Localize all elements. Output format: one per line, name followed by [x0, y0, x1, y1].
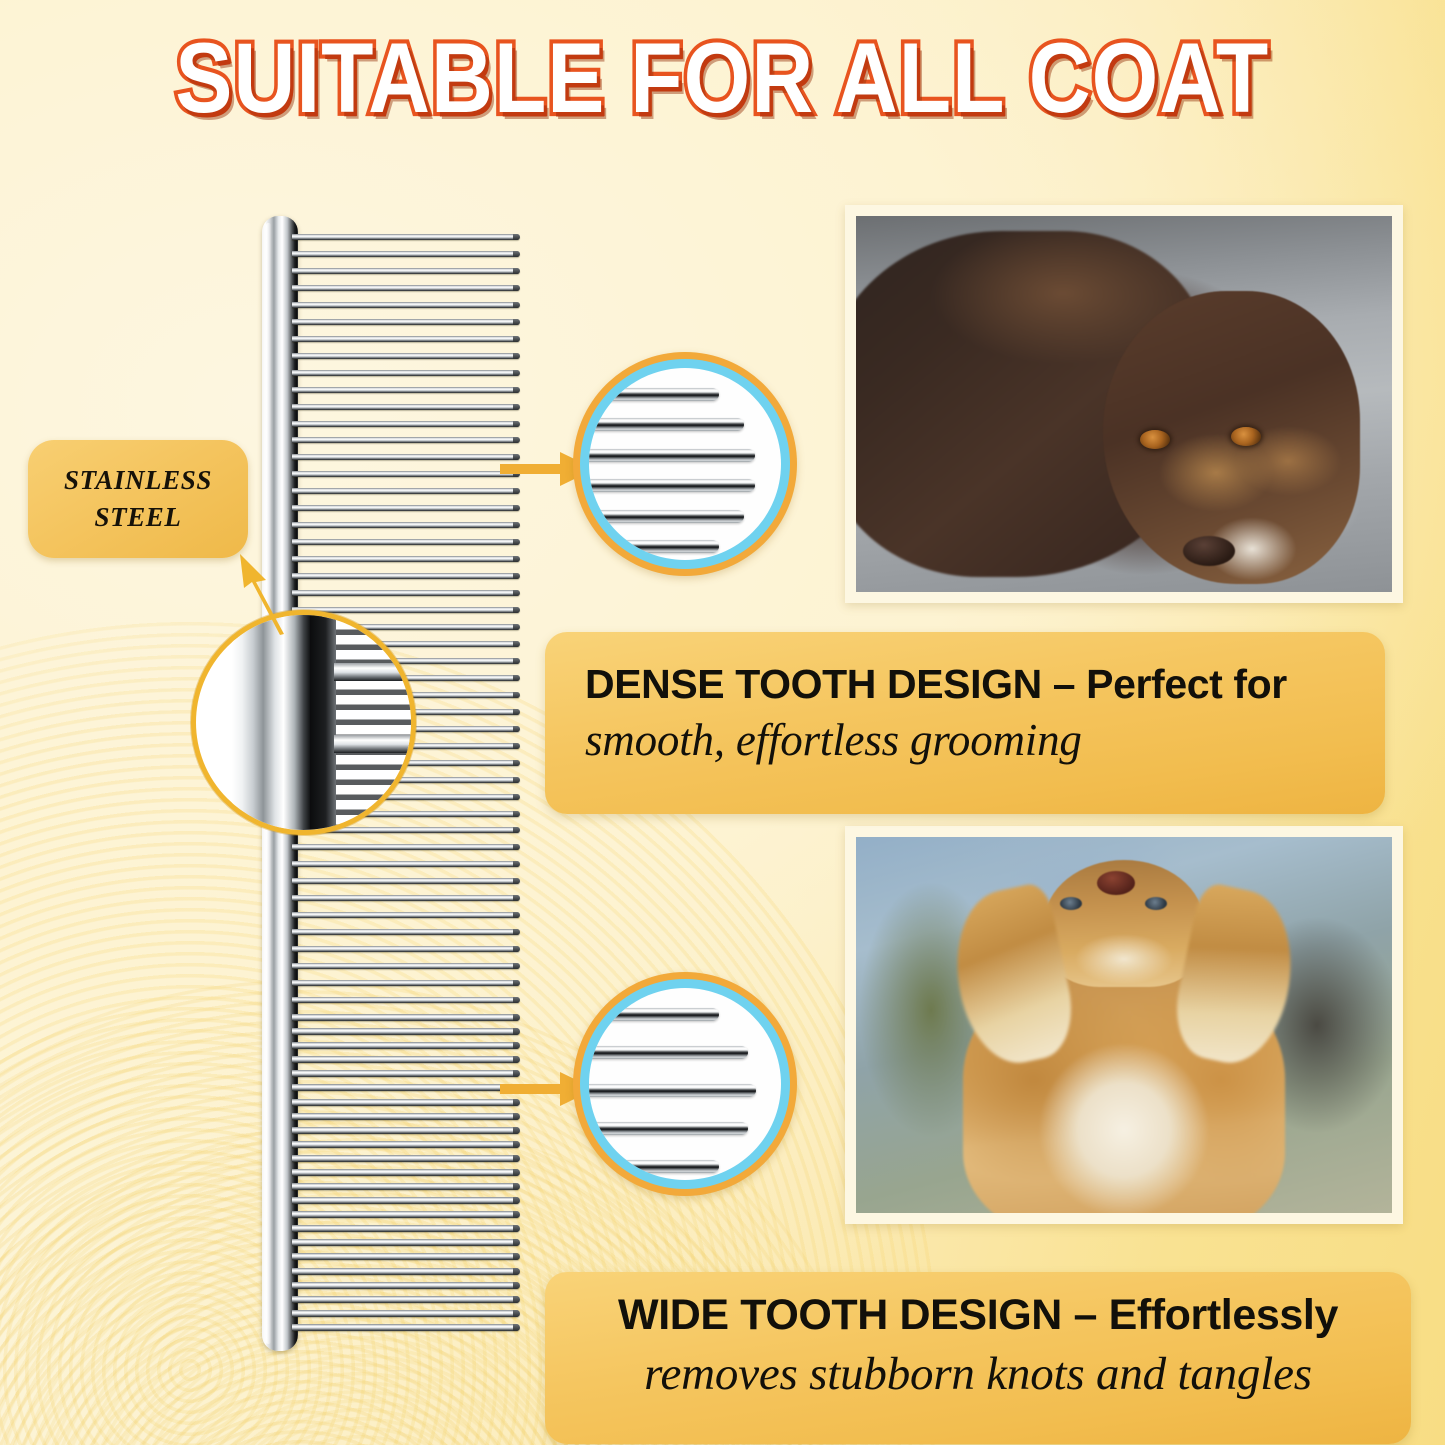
comb-tooth-dense	[292, 437, 520, 443]
comb-tooth-dense	[292, 912, 520, 918]
comb-tooth-dense	[292, 404, 520, 410]
comb-tooth-dense	[292, 997, 520, 1003]
lens-tooth-wide	[589, 1122, 748, 1135]
comb-tooth-wide	[292, 1169, 520, 1176]
stainless-steel-badge-label: STAINLESSSTEEL	[64, 462, 212, 537]
dog2-ear-right	[1166, 880, 1307, 1071]
comb-tooth-dense	[292, 285, 520, 291]
spine-closeup-magnifier	[191, 610, 416, 835]
lens-tooth-wide	[589, 1008, 719, 1021]
comb-tooth-wide	[292, 1183, 520, 1190]
dog-looking-up-image	[856, 837, 1392, 1213]
dense-tooth-zoom-lens	[589, 368, 781, 560]
comb-tooth-dense	[292, 895, 520, 901]
comb-tooth-dense	[292, 319, 520, 325]
spine-closeup-rod	[232, 610, 310, 835]
wide-tooth-zoom-circle	[573, 972, 797, 1196]
comb-tooth-wide	[292, 1197, 520, 1204]
comb-tooth-dense	[292, 505, 520, 511]
dense-tooth-zoom-inner-ring	[580, 359, 790, 569]
spine-closeup-tooth	[334, 735, 416, 753]
comb-tooth-dense	[292, 573, 520, 579]
comb-tooth-dense	[292, 454, 520, 460]
comb-tooth-wide	[292, 1113, 520, 1120]
stainless-steel-badge: STAINLESSSTEEL	[28, 440, 248, 558]
comb-tooth-dense	[292, 370, 520, 376]
comb-tooth-dense	[292, 387, 520, 393]
comb-tooth-dense	[292, 302, 520, 308]
comb-tooth-wide	[292, 1239, 520, 1246]
dog1-eye-right	[1231, 427, 1261, 446]
comb-tooth-wide	[292, 1155, 520, 1162]
lens-tooth-dense	[589, 510, 744, 523]
dog1-nose	[1183, 536, 1235, 566]
comb-tooth-dense	[292, 963, 520, 969]
header: SUITABLE FOR ALL COAT	[0, 28, 1445, 112]
comb-tooth-wide	[292, 1099, 520, 1106]
wide-tooth-callout-lead: WIDE TOOTH DESIGN – Effortlessly	[569, 1288, 1387, 1344]
comb-tooth-dense	[292, 980, 520, 986]
comb-tooth-wide	[292, 1127, 520, 1134]
comb-tooth-wide	[292, 1296, 520, 1303]
spine-closeup-tooth	[334, 663, 416, 681]
lens-tooth-wide	[589, 1046, 748, 1059]
lens-tooth-dense	[589, 388, 719, 401]
comb-tooth-wide	[292, 1225, 520, 1232]
wide-tooth-zoom-inner-ring	[580, 979, 790, 1189]
dense-tooth-callout-desc: smooth, effortless grooming	[585, 711, 1351, 770]
wide-tooth-callout-desc: removes stubborn knots and tangles	[569, 1344, 1387, 1405]
lens-tooth-dense	[589, 418, 744, 431]
comb-tooth-wide	[292, 1070, 520, 1077]
lens-tooth-wide	[589, 1160, 719, 1173]
comb-tooth-dense	[292, 336, 520, 342]
comb-tooth-dense	[292, 539, 520, 545]
badge-pointer-arrow	[222, 548, 302, 643]
comb-tooth-wide	[292, 1253, 520, 1260]
comb-tooth-wide	[292, 1014, 520, 1021]
spine-closeup-shadow	[310, 610, 336, 835]
wide-tooth-zoom-lens	[589, 988, 781, 1180]
comb-tooth-wide	[292, 1324, 520, 1331]
infographic-canvas: SUITABLE FOR ALL COAT STAINLESSSTEEL	[0, 0, 1445, 1445]
dense-tooth-zoom-circle	[573, 352, 797, 576]
comb-tooth-dense	[292, 844, 520, 850]
comb-tooth-dense	[292, 861, 520, 867]
photo-dog-looking-up	[845, 826, 1403, 1224]
comb-tooth-wide	[292, 1282, 520, 1289]
wide-tooth-callout: WIDE TOOTH DESIGN – Effortlessly removes…	[545, 1272, 1411, 1444]
comb-tooth-wide	[292, 1211, 520, 1218]
comb-tooth-wide	[292, 1310, 520, 1317]
spine-closeup-background-teeth	[334, 610, 416, 835]
dog2-nose	[1097, 871, 1135, 895]
dog2-ear-left	[941, 880, 1082, 1071]
comb-tooth-wide	[292, 1028, 520, 1035]
comb-tooth-dense	[292, 421, 520, 427]
comb-tooth-dense	[292, 522, 520, 528]
dense-tooth-callout: DENSE TOOTH DESIGN – Perfect for smooth,…	[545, 632, 1385, 814]
comb-tooth-dense	[292, 488, 520, 494]
comb-tooth-wide	[292, 1268, 520, 1275]
comb-tooth-dense	[292, 946, 520, 952]
comb-tooth-dense	[292, 929, 520, 935]
dog-resting-image	[856, 216, 1392, 592]
comb-tooth-dense	[292, 878, 520, 884]
comb-tooth-wide	[292, 1056, 520, 1063]
photo-dog-resting-on-couch	[845, 205, 1403, 603]
page-title: SUITABLE FOR ALL COAT	[176, 28, 1270, 127]
comb-tooth-wide	[292, 1141, 520, 1148]
comb-tooth-wide	[292, 1084, 520, 1091]
dense-tooth-callout-lead: DENSE TOOTH DESIGN – Perfect for	[585, 658, 1351, 711]
dog2-eye-right	[1145, 897, 1167, 910]
lens-tooth-dense	[589, 540, 719, 553]
lens-tooth-dense	[589, 449, 755, 462]
dog1-eye-left	[1140, 430, 1170, 449]
lens-tooth-wide	[589, 1084, 756, 1097]
comb-tooth-dense	[292, 590, 520, 596]
comb-tooth-dense	[292, 234, 520, 240]
comb-tooth-dense	[292, 353, 520, 359]
comb-tooth-dense	[292, 268, 520, 274]
comb-tooth-dense	[292, 471, 520, 477]
comb-tooth-wide	[292, 1042, 520, 1049]
comb-tooth-dense	[292, 556, 520, 562]
dog2-eye-left	[1060, 897, 1082, 910]
lens-tooth-dense	[589, 479, 755, 492]
comb-tooth-dense	[292, 251, 520, 257]
